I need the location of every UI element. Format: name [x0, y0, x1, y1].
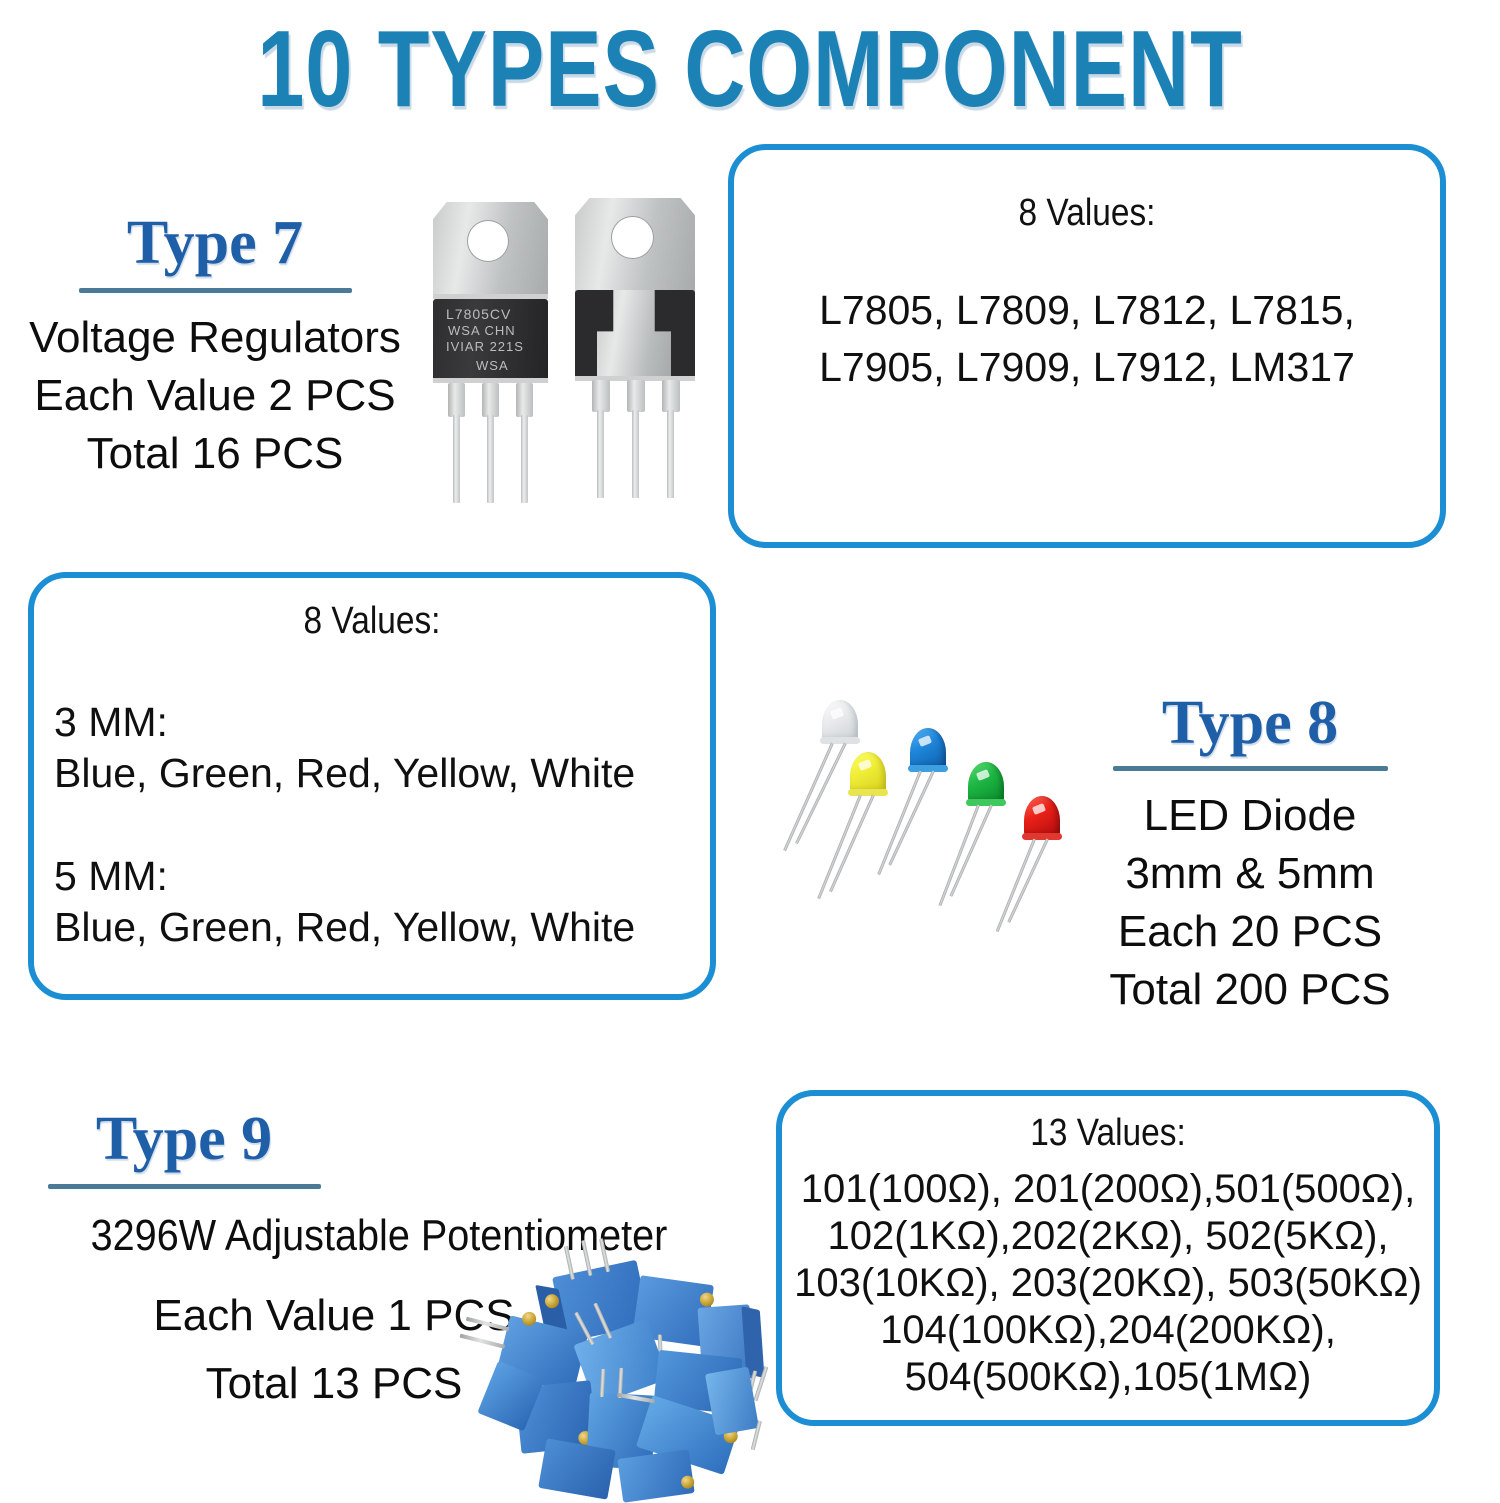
type8-size-3mm-colors: Blue, Green, Red, Yellow, White [54, 750, 710, 797]
led-green-lead-1 [938, 804, 980, 906]
regulator-marking-line-1: L7805CV [446, 306, 511, 322]
type9-values-heading: 13 Values: [821, 1112, 1395, 1155]
pot-item-4-screw [521, 1310, 538, 1327]
regulator-back-pin-1 [597, 410, 604, 498]
regulator-marking-line-2: WSA CHN [448, 323, 516, 338]
type8-size-3mm-label: 3 MM: [54, 699, 710, 746]
regulator-pin-1 [453, 415, 460, 503]
page-title: 10 TYPES COMPONENT [60, 8, 1440, 131]
regulator-pin-base-2 [482, 383, 499, 417]
led-green [968, 762, 1004, 808]
regulator-back-pin-2 [632, 410, 639, 498]
type8-size-5mm-label: 5 MM: [54, 853, 710, 900]
regulator-front: L7805CV WSA CHN IVIAR 221S WSA [433, 202, 548, 502]
type9-rule [48, 1184, 321, 1189]
led-blue [910, 728, 946, 774]
pot-item-8-leg-1 [600, 1369, 605, 1397]
type7-line-1: Voltage Regulators [20, 309, 410, 367]
type7-values-line-1: L7805, L7809, L7812, L7815, [734, 287, 1440, 334]
regulator-back [575, 198, 695, 498]
led-yellow-lead-1 [817, 794, 862, 899]
regulator-pin-2 [487, 415, 494, 503]
regulator-pin-base-3 [516, 383, 533, 417]
type8-heading: Type 8 [1095, 688, 1405, 758]
type9-heading: Type 9 [14, 1104, 354, 1174]
type7-line-3: Total 16 PCS [20, 425, 410, 483]
led-diode-photo [762, 686, 1092, 926]
type8-line-1: LED Diode [1095, 787, 1405, 845]
type7-section: Type 7 Voltage Regulators Each Value 2 P… [20, 208, 410, 483]
voltage-regulator-photo: L7805CV WSA CHN IVIAR 221S WSA [425, 196, 715, 506]
type9-values-line-1: 101(100Ω), 201(200Ω),501(500Ω), [782, 1167, 1434, 1212]
type9-line-1: 3296W Adjustable Potentiometer [14, 1207, 744, 1265]
pot-item-12 [617, 1449, 694, 1503]
regulator-back-pin-base-2 [627, 380, 645, 412]
regulator-marking-line-3: IVIAR 221S [446, 339, 524, 354]
type7-heading: Type 7 [20, 208, 410, 278]
type7-values-line-2: L7905, L7909, L7912, LM317 [734, 344, 1440, 391]
led-blue-lead-2 [888, 770, 935, 866]
type8-line-2: 3mm & 5mm [1095, 845, 1405, 903]
type8-section: Type 8 LED Diode 3mm & 5mm Each 20 PCS T… [1095, 688, 1405, 1019]
regulator-pin-3 [521, 415, 528, 503]
regulator-mounting-hole [467, 220, 509, 262]
led-blue-rim [908, 765, 948, 772]
pot-item-4-leg-1 [466, 1317, 510, 1332]
type7-values-heading: 8 Values: [776, 192, 1397, 235]
regulator-back-pin-base-1 [592, 380, 610, 412]
led-white [822, 700, 858, 746]
led-white-lead-2 [795, 742, 847, 844]
regulator-marking-line-4: WSA [476, 358, 509, 373]
type9-values-box: 13 Values: 101(100Ω), 201(200Ω),501(500Ω… [776, 1090, 1440, 1426]
type9-values-line-4: 104(100KΩ),204(200KΩ), [782, 1308, 1434, 1353]
regulator-back-pin-3 [667, 410, 674, 498]
type9-values-line-3: 103(10KΩ), 203(20KΩ), 503(50KΩ) [782, 1261, 1434, 1306]
type8-values-heading: 8 Values: [75, 600, 670, 643]
led-green-rim [966, 799, 1006, 806]
regulator-back-mounting-hole [611, 216, 654, 259]
regulator-back-pin-base-3 [662, 380, 680, 412]
led-green-dome [968, 762, 1004, 802]
type7-rule [79, 288, 352, 293]
led-red-dome [1024, 796, 1060, 836]
type8-size-5mm-colors: Blue, Green, Red, Yellow, White [54, 904, 710, 951]
pot-item-2-screw [699, 1292, 715, 1308]
led-yellow-rim [848, 789, 888, 796]
type9-line-1-text: 3296W Adjustable Potentiometer [51, 1207, 708, 1265]
led-white-rim [820, 737, 860, 744]
led-white-lead-1 [783, 742, 834, 851]
type8-line-4: Total 200 PCS [1095, 961, 1405, 1019]
type8-line-3: Each 20 PCS [1095, 903, 1405, 961]
type9-values-line-5: 504(500KΩ),105(1MΩ) [782, 1355, 1434, 1400]
type8-values-box: 8 Values: 3 MM: Blue, Green, Red, Yellow… [28, 572, 716, 1000]
led-yellow [850, 752, 886, 798]
type7-line-2: Each Value 2 PCS [20, 367, 410, 425]
type8-rule [1113, 766, 1388, 771]
potentiometer-photo [470, 1258, 760, 1500]
led-white-dome [822, 700, 858, 740]
led-red-lead-1 [996, 838, 1036, 932]
pot-item-11 [538, 1438, 616, 1499]
type9-values-line-2: 102(1KΩ),202(2KΩ), 502(5KΩ), [782, 1214, 1434, 1259]
type7-values-box: 8 Values: L7805, L7809, L7812, L7815, L7… [728, 144, 1446, 548]
pot-item-12-screw [680, 1475, 695, 1490]
led-red-rim [1022, 833, 1062, 840]
regulator-pin-base-1 [448, 383, 465, 417]
led-blue-dome [910, 728, 946, 768]
pot-item-10-leg-1 [751, 1420, 762, 1450]
led-yellow-dome [850, 752, 886, 792]
led-red [1024, 796, 1060, 842]
